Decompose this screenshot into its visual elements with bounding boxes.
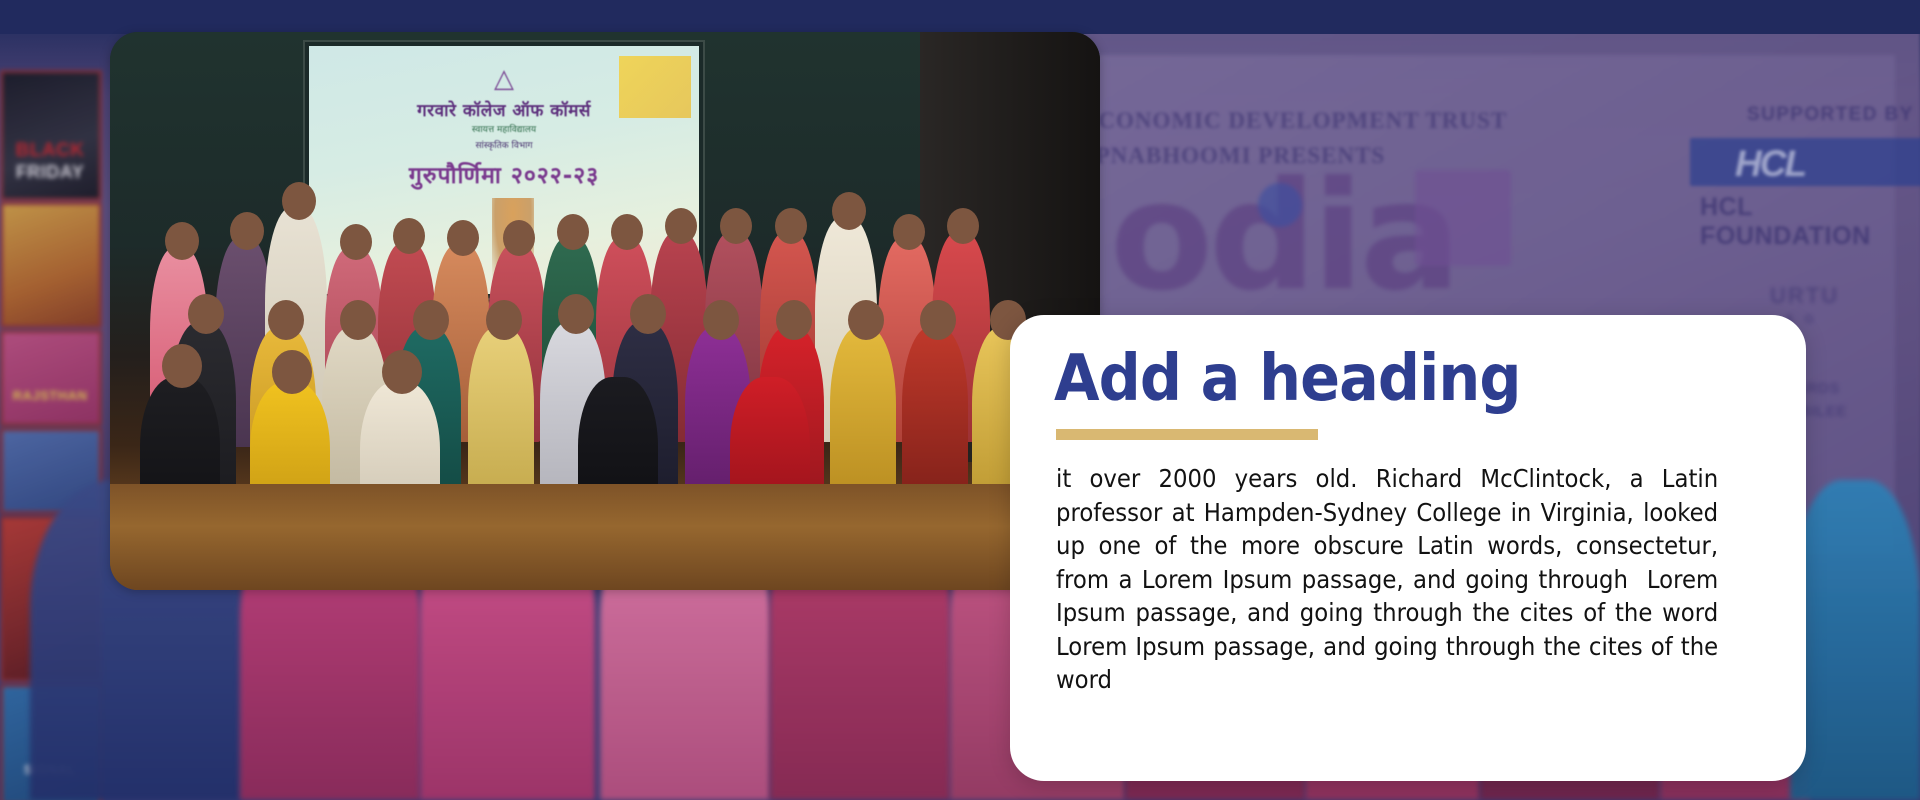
page-title: Add a heading [1054,347,1705,411]
poster-canvas: ECONOMIC DEVELOPMENT TRUST APNABHOOMI PR… [0,0,1920,800]
person-head [776,300,812,340]
hcl-logo-icon: HCL [1735,143,1805,185]
poster-title: BLACK [4,140,96,162]
sponsor-name: HCL FOUNDATION [1700,193,1920,251]
body-paragraph: it over 2000 years old. Richard McClinto… [1056,462,1718,697]
poster-title: RAJSTHAN [4,388,96,403]
person-head [832,192,866,230]
person-head [272,350,312,394]
movie-poster [0,202,102,328]
secondary-logo-line1: URTU [1770,283,1839,309]
person-head [893,214,925,250]
stage-floor [110,484,1100,590]
person-head [630,294,666,334]
person-head [557,214,589,250]
person-head [268,300,304,340]
person-head [775,208,807,244]
sponsor-label: SUPPORTED BY [1747,104,1914,126]
person-head [920,300,956,340]
person-head [486,300,522,340]
person-head [447,220,479,256]
poster-subtitle: FRIDAY [4,162,96,183]
person-head [665,208,697,244]
person-head [848,300,884,340]
person-head [340,300,376,340]
person-head [230,212,264,250]
group-photo: △ गरवारे कॉलेज ऑफ कॉमर्स स्वायत्त महाविद… [110,32,1100,590]
accent-divider [1056,429,1318,440]
backdrop-banner-line1: ECONOMIC DEVELOPMENT TRUST [1082,108,1507,134]
backdrop-dot-shape [1258,183,1302,227]
person-head [503,220,535,256]
person-head [340,224,372,260]
backdrop-square-shape [1415,170,1511,266]
top-color-band [0,0,1920,34]
person-head [165,222,199,260]
person-head [413,300,449,340]
person-head [558,294,594,334]
person-head [393,218,425,254]
text-card: Add a heading it over 2000 years old. Ri… [1010,315,1806,781]
person-head [703,300,739,340]
person-head [947,208,979,244]
person-head [162,344,202,388]
movie-poster [0,330,102,426]
crowd-figure [1790,480,1920,800]
person-head [720,208,752,244]
person-head [382,350,422,394]
backdrop-banner-wordmark: odia [1110,150,1457,324]
person-head [282,182,316,220]
person-head [188,294,224,334]
person-head [611,214,643,250]
